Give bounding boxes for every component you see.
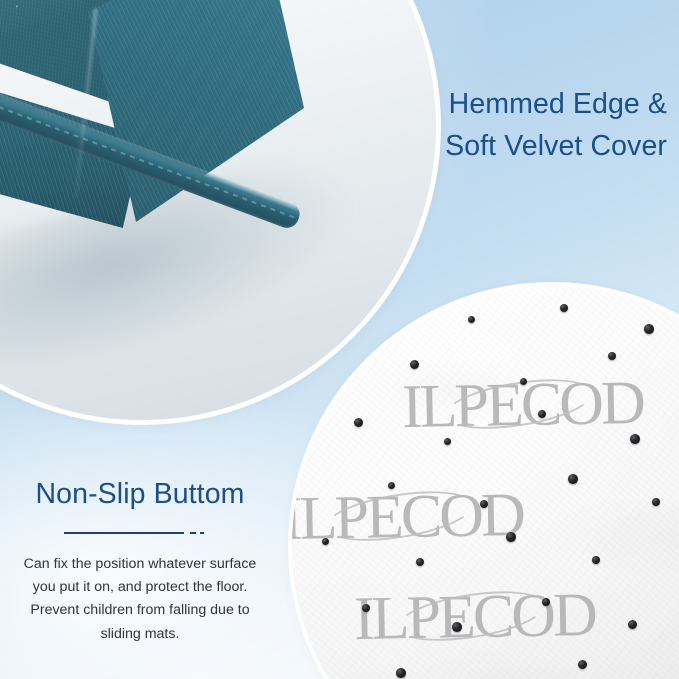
watermark-swash <box>441 371 596 438</box>
mat-grip-dot <box>506 532 516 542</box>
mat-grip-dot <box>444 438 451 445</box>
mat-grip-dot <box>396 668 406 678</box>
mat-grip-dot <box>630 434 640 444</box>
mat-grip-dot <box>388 482 395 489</box>
mat-grip-dot <box>452 622 462 632</box>
mat-grip-dot <box>322 538 329 545</box>
mat-grip-dot <box>520 378 527 385</box>
mat-grip-dot <box>542 598 550 606</box>
mat-grip-dot <box>644 324 654 334</box>
feature-heading-non-slip: Non-Slip Buttom <box>14 477 266 511</box>
product-feature-image: ILPECOD ILPECOD ILPECOD Hemmed Edge & So… <box>0 0 679 679</box>
mat-grip-dot <box>592 556 600 564</box>
watermark-swash <box>393 583 548 650</box>
watermark-swash <box>321 483 476 550</box>
heading-divider <box>64 528 216 538</box>
mat-grip-dot <box>652 498 660 506</box>
feature-block-non-slip: Non-Slip Buttom Can fix the position wha… <box>14 477 266 646</box>
feature-body-non-slip: Can fix the position whatever surface yo… <box>14 553 266 646</box>
mat-grip-dot <box>568 474 578 484</box>
feature-heading-hemmed-edge: Hemmed Edge & Soft Velvet Cover <box>247 84 667 168</box>
divider-line <box>64 532 184 534</box>
divider-dash-2 <box>200 532 204 534</box>
mat-watermark-row-3: ILPECOD <box>353 580 595 655</box>
non-slip-mat-photo-circle: ILPECOD ILPECOD ILPECOD <box>292 286 679 679</box>
mat-grip-dot <box>468 316 475 323</box>
divider-dash-1 <box>190 532 196 534</box>
